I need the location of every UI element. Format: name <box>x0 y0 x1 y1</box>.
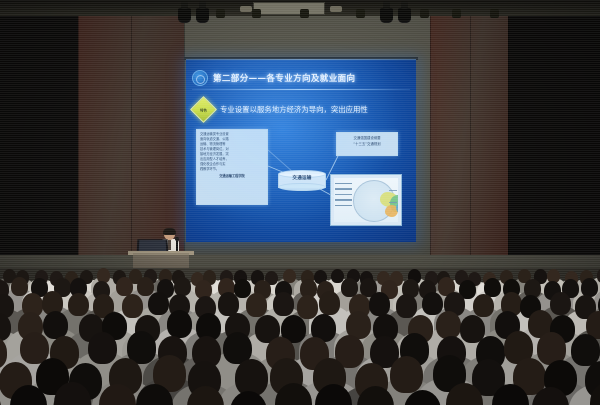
audience-person-head <box>369 292 390 316</box>
slide-subtitle-row: 特色 专业设置以服务地方经济为导向，突出应用性 <box>194 97 410 121</box>
audience-person-head <box>473 294 494 318</box>
map-region-circle <box>353 180 395 222</box>
center-node-base <box>278 183 326 191</box>
backdrop-seam <box>184 0 185 290</box>
slide-title-divider <box>192 89 410 90</box>
stage-lamp-icon <box>216 9 225 18</box>
truss-equipment-box <box>253 2 325 15</box>
audience-person-head <box>68 293 89 317</box>
diagram-map-card <box>330 174 402 226</box>
audience-person-head <box>390 356 423 393</box>
map-region-area <box>396 203 398 213</box>
audience-person-head <box>88 332 117 364</box>
audience-person-head <box>581 278 598 297</box>
audience-person-head <box>122 294 143 318</box>
stage-lamp-icon <box>178 8 191 23</box>
backdrop-seam <box>470 0 471 290</box>
audience-person-head <box>218 292 239 316</box>
backdrop-red-curtain-right <box>430 0 508 290</box>
stage-lamp-icon <box>300 9 309 18</box>
left-box-footer: 交通运输工程学院 <box>200 174 264 179</box>
slide-subtitle: 专业设置以服务地方经济为导向，突出应用性 <box>220 104 368 115</box>
audience-person-head <box>148 292 169 316</box>
map-callout-tick <box>389 202 397 203</box>
circle-badge-icon <box>192 70 208 86</box>
backdrop-seam <box>131 0 132 290</box>
diamond-icon-label: 特色 <box>194 101 213 120</box>
audience-person-head <box>319 291 340 315</box>
map-legend <box>335 183 352 210</box>
stage-lamp-icon <box>420 9 429 18</box>
projected-slide: 第二部分——各专业方向及就业面向 特色 专业设置以服务地方经济为导向，突出应用性 <box>186 60 416 242</box>
left-box-lines: 交通运输类专业设置 面向轨道交通、公路 运输、物流管理等 技术与管理岗位，对 接… <box>197 130 267 181</box>
map-legend-row <box>335 188 352 189</box>
truss-light-glow <box>330 6 342 12</box>
audience-person-head <box>11 277 28 296</box>
audience-person-head <box>273 292 294 316</box>
stage-lamp-icon <box>398 8 411 23</box>
auditorium-photo: 第二部分——各专业方向及就业面向 特色 专业设置以服务地方经济为导向，突出应用性 <box>0 0 600 405</box>
backdrop-seam <box>78 0 79 290</box>
audience-person-head <box>246 293 267 317</box>
map-callout-tick <box>389 190 397 191</box>
backdrop-dark-panel-left <box>0 0 78 290</box>
map-image <box>334 178 398 222</box>
audience-crowd <box>0 268 600 405</box>
left-box-line: 践教学环节。 <box>200 167 264 172</box>
audience-person-head <box>436 311 461 339</box>
map-legend-row <box>335 199 352 200</box>
top-right-box-lines: 交通强国建设纲要 “十三五”交通规划 <box>337 133 397 149</box>
audience-person-head <box>43 311 68 339</box>
stage-lamp-icon <box>252 9 261 18</box>
stage-lamp-icon <box>380 8 393 23</box>
audience-person-head <box>137 277 154 296</box>
audience-person-head <box>396 294 417 318</box>
yellow-diamond-icon: 特色 <box>190 96 217 123</box>
audience-person-head <box>167 310 192 338</box>
map-legend-row <box>335 183 352 184</box>
audience-person-head <box>550 292 571 316</box>
presenter-hair <box>163 228 176 235</box>
diagram-left-text-box: 交通运输类专业设置 面向轨道交通、公路 运输、物流管理等 技术与管理岗位，对 接… <box>196 129 268 205</box>
diagram-center-node: 交通运输 <box>278 170 326 191</box>
center-node-label: 交通运输 <box>278 175 326 181</box>
backdrop-seam <box>508 0 509 290</box>
map-legend-row <box>335 194 352 195</box>
stage-lamp-icon <box>356 9 365 18</box>
stage-lamp-icon <box>196 8 209 23</box>
top-right-box-line: “十三五”交通规划 <box>340 141 394 147</box>
audience-person-head <box>174 277 191 296</box>
slide-title-row: 第二部分——各专业方向及就业面向 <box>192 68 410 88</box>
audience-person-head <box>297 295 318 319</box>
slide-title: 第二部分——各专业方向及就业面向 <box>213 72 355 84</box>
backdrop-dark-panel-right <box>508 0 600 290</box>
backdrop-seam <box>430 0 431 290</box>
presenter-tie <box>168 240 171 250</box>
diagram-top-right-box: 交通强国建设纲要 “十三五”交通规划 <box>336 132 398 156</box>
audience-person-head <box>422 292 443 316</box>
truss-light-glow <box>240 6 252 12</box>
slide-diagram: 交通运输类专业设置 面向轨道交通、公路 运输、物流管理等 技术与管理岗位，对 接… <box>190 126 412 238</box>
stage-lamp-icon <box>452 9 461 18</box>
laptop-screen <box>139 240 166 251</box>
stage-lamp-icon <box>490 9 499 18</box>
map-legend-row <box>335 205 352 206</box>
